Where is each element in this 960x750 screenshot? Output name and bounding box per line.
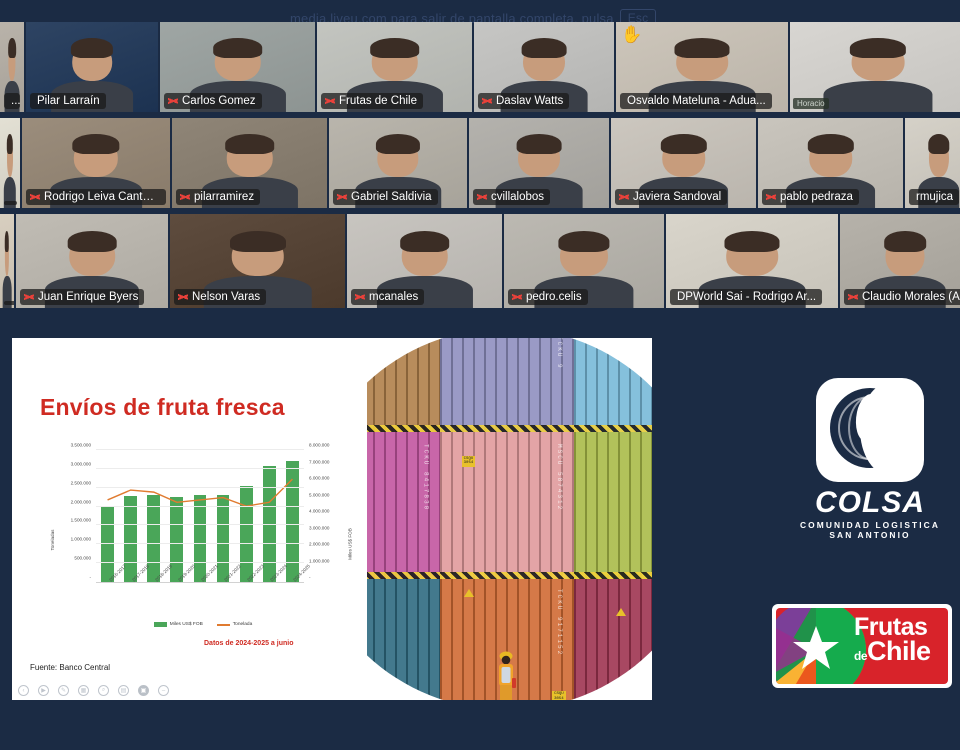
video-tile[interactable]: Horacio xyxy=(790,22,960,112)
legend-item-line: Tonelada xyxy=(217,622,252,627)
participant-name-label: ... xyxy=(4,93,20,109)
participant-mini-label: Horacio xyxy=(793,98,829,109)
participant-name-text: pablo pedraza xyxy=(780,191,853,203)
participant-name-text: pilarramirez xyxy=(194,191,254,203)
participant-name-label xyxy=(4,201,17,205)
legend-label-bar: Miles US$ FOB xyxy=(170,622,203,627)
container-maroon: BMOU 2581830 xyxy=(574,579,652,700)
chart-x-tick-labels: 2016-20172017-20182018-20192019-20202020… xyxy=(96,579,304,603)
chart-y-tick: 1.500.000 xyxy=(71,518,91,523)
participant-name-text: Rodrigo Leiva Cantarel... xyxy=(44,191,160,203)
video-tile[interactable] xyxy=(0,118,20,208)
pdf-grid-button[interactable]: ▦ xyxy=(78,685,89,696)
chart-gridline xyxy=(96,543,304,544)
container-code: TCKU 8417830 xyxy=(423,444,430,511)
pdf-play-button[interactable]: ▶ xyxy=(38,685,49,696)
container-orange: TCKU 9171152 CSQU3054 xyxy=(440,579,573,700)
warning-triangle-icon xyxy=(464,589,474,597)
video-tile[interactable]: mcanales xyxy=(347,214,502,308)
frutas-line2: Chile xyxy=(867,636,931,666)
video-tile[interactable]: Pilar Larraín xyxy=(26,22,158,112)
chart-x-tick: 2016-2017 xyxy=(96,579,119,603)
participant-name-label: DPWorld Sai - Rodrigo Ar... xyxy=(670,289,822,305)
chart-y-tick: - xyxy=(89,575,91,580)
video-tile[interactable]: pilarramirez xyxy=(172,118,327,208)
frutas-wordmark: Frutas deChile xyxy=(854,615,931,665)
legend-swatch-bar xyxy=(154,622,167,627)
container-magenta: TCKU 8417830 CSQU3054 xyxy=(367,432,440,578)
dock-worker-figure xyxy=(495,648,517,700)
participant-name-text: Gabriel Saldivia xyxy=(351,191,432,203)
chart-gridline xyxy=(96,562,304,563)
container-purple: TCKU 9 xyxy=(440,338,573,432)
participant-name-text: mcanales xyxy=(369,291,418,303)
chart-y-tick: 500.000 xyxy=(74,556,91,561)
meeting-screen: media.liveu.com para salir de pantalla c… xyxy=(0,0,960,750)
zoom-participant-icon xyxy=(24,291,34,303)
pdf-minus-button[interactable]: – xyxy=(158,685,169,696)
participant-name-text: Nelson Varas xyxy=(192,291,260,303)
chart-x-tick: 2023-2024 xyxy=(258,579,281,603)
chart-gridline xyxy=(96,487,304,488)
slide-title: Envíos de fruta fresca xyxy=(40,394,285,421)
chart-gridline xyxy=(96,468,304,469)
chart-plot-area: 3.500.0003.000.0002.500.0002.000.0001.50… xyxy=(96,450,304,583)
container-code: TCKU 9 xyxy=(556,338,563,370)
video-gallery: ...Pilar LarraínCarlos Gomez Frutas de C… xyxy=(0,0,960,320)
container-photo: TCKU 9 MSCU 4 TCKU 8417830 CSQU3054 MSCU… xyxy=(367,338,652,700)
video-tile[interactable]: Rodrigo Leiva Cantarel... xyxy=(22,118,170,208)
chart-y2-tick: 4.000.000 xyxy=(309,509,329,514)
chart-annotation: Datos de 2024-2025 a junio xyxy=(204,640,293,647)
video-tile[interactable]: ... xyxy=(0,22,24,112)
zoom-participant-icon xyxy=(477,191,487,203)
container-teal: 144242 xyxy=(367,579,440,700)
participant-name-text: Juan Enrique Byers xyxy=(38,291,138,303)
participant-name-text: Daslav Watts xyxy=(496,95,563,107)
zoom-participant-icon xyxy=(848,291,858,303)
pdf-note-button[interactable]: ▤ xyxy=(118,685,129,696)
colsa-logo: COLSA COMUNIDAD LOGISTICA SAN ANTONIO xyxy=(790,378,950,553)
zoom-participant-icon xyxy=(30,191,40,203)
chart-y2-tick: 5.000.000 xyxy=(309,492,329,497)
participant-name-text: Frutas de Chile xyxy=(339,95,417,107)
participant-name-text: rmujica xyxy=(916,191,953,203)
participant-name-label: rmujica xyxy=(909,189,959,205)
pdf-prev-button[interactable]: ‹ xyxy=(18,685,29,696)
zoom-participant-icon xyxy=(325,95,335,107)
participant-name-label: Carlos Gomez xyxy=(164,93,262,109)
video-tile[interactable]: Nelson Varas xyxy=(170,214,345,308)
container-lightblue: MSCU 4 xyxy=(574,338,652,432)
video-tile[interactable]: Juan Enrique Byers xyxy=(16,214,168,308)
video-tile[interactable]: cvillalobos xyxy=(469,118,609,208)
chart-y-tick: 2.500.000 xyxy=(71,480,91,485)
participant-name-label: Osvaldo Mateluna - Adua... xyxy=(620,93,772,109)
legend-item-bar: Miles US$ FOB xyxy=(154,622,203,627)
frutas-de: de xyxy=(854,649,867,663)
chart-y-axis-label: Toneladas xyxy=(50,530,55,551)
chart-y-tick: 1.000.000 xyxy=(71,537,91,542)
chart-y2-tick: 2.000.000 xyxy=(309,542,329,547)
chart-y2-tick: 1.000.000 xyxy=(309,558,329,563)
video-tile[interactable]: Daslav Watts xyxy=(474,22,614,112)
participant-name-text: Claudio Morales (A xyxy=(862,291,960,303)
chart-x-tick: 2022-2023 xyxy=(235,579,258,603)
participant-name-label: Javiera Sandoval xyxy=(615,189,727,205)
participant-name-label: pablo pedraza xyxy=(762,189,859,205)
pdf-zoom-button[interactable]: ⌕ xyxy=(98,685,109,696)
colsa-globe-icon xyxy=(816,378,924,482)
chart-x-tick: 2021-2022 xyxy=(212,579,235,603)
video-tile[interactable]: pedro.celis xyxy=(504,214,664,308)
chart-gridline xyxy=(96,524,304,525)
participant-name-label: mcanales xyxy=(351,289,424,305)
slide-source: Fuente: Banco Central xyxy=(30,663,110,672)
chart-x-tick: 2018-2019 xyxy=(142,579,165,603)
pdf-screen-button[interactable]: ▣ xyxy=(138,685,149,696)
zoom-participant-icon xyxy=(337,191,347,203)
zoom-participant-icon xyxy=(180,191,190,203)
participant-name-text: Carlos Gomez xyxy=(182,95,256,107)
video-tile[interactable]: Gabriel Saldivia xyxy=(329,118,467,208)
participant-name-text: DPWorld Sai - Rodrigo Ar... xyxy=(677,291,816,303)
video-tile[interactable]: Carlos Gomez xyxy=(160,22,315,112)
chart-x-tick: 2020-2021 xyxy=(189,579,212,603)
gallery-row-3: Juan Enrique ByersNelson Varasmcanalespe… xyxy=(0,214,960,308)
chart-y-tick: 3.500.000 xyxy=(71,443,91,448)
chart-y2-axis-label: Miles US$ FOB xyxy=(348,528,353,560)
zoom-participant-icon xyxy=(482,95,492,107)
participant-name-label: Rodrigo Leiva Cantarel... xyxy=(26,189,166,205)
chart-x-tick: 2024-2025 xyxy=(281,579,304,603)
chart-y-tick: 3.000.000 xyxy=(71,461,91,466)
container-olive: TCNU 4021830 CSQU3054 xyxy=(574,432,652,578)
video-tile[interactable]: ✋Osvaldo Mateluna - Adua... xyxy=(616,22,788,112)
container-pink: MSCU 5874312 CSQU3054 xyxy=(440,432,573,578)
participant-name-label: Juan Enrique Byers xyxy=(20,289,144,305)
participant-name-text: cvillalobos xyxy=(491,191,544,203)
pdf-toolbar[interactable]: ‹ ▶ ✎ ▦ ⌕ ▤ ▣ – xyxy=(18,685,169,696)
video-tile[interactable]: Claudio Morales (A xyxy=(840,214,960,308)
participant-name-text: Osvaldo Mateluna - Adua... xyxy=(627,95,766,107)
gallery-row-1: ...Pilar LarraínCarlos Gomez Frutas de C… xyxy=(0,22,960,112)
zoom-participant-icon xyxy=(178,291,188,303)
colsa-subtitle-line2: SAN ANTONIO xyxy=(829,530,910,540)
chart-y2-tick: 8.000.000 xyxy=(309,443,329,448)
gallery-row-2: Rodrigo Leiva Cantarel...pilarramirezGab… xyxy=(0,118,960,208)
chart-y2-tick: - xyxy=(309,575,311,580)
chart-line-path xyxy=(108,479,293,506)
participant-name-label: Nelson Varas xyxy=(174,289,266,305)
container-stack: TCKU 9 MSCU 4 TCKU 8417830 CSQU3054 MSCU… xyxy=(367,338,652,700)
container-code: MSCU 5874312 xyxy=(556,444,563,511)
video-tile[interactable] xyxy=(0,214,14,308)
colsa-wordmark: COLSA xyxy=(815,486,925,520)
zoom-participant-icon xyxy=(512,291,522,303)
chart-y2-tick: 3.000.000 xyxy=(309,525,329,530)
video-tile[interactable]: Frutas de Chile xyxy=(317,22,472,112)
zoom-participant-icon xyxy=(355,291,365,303)
colsa-subtitle-line1: COMUNIDAD LOGISTICA xyxy=(800,520,940,530)
container-code: TCKU 9171152 xyxy=(556,589,563,656)
chart-y2-tick: 7.000.000 xyxy=(309,459,329,464)
container-tag: CSQU3054 xyxy=(552,691,566,700)
chart-y2-tick: 6.000.000 xyxy=(309,476,329,481)
participant-name-label: pilarramirez xyxy=(176,189,260,205)
container-tag: CSQU3054 xyxy=(462,456,476,467)
video-tile[interactable]: rmujica xyxy=(905,118,960,208)
participant-name-label: Pilar Larraín xyxy=(30,93,106,109)
participant-name-text: pedro.celis xyxy=(526,291,582,303)
video-tile[interactable]: Javiera Sandoval xyxy=(611,118,756,208)
pdf-pen-button[interactable]: ✎ xyxy=(58,685,69,696)
zoom-participant-icon xyxy=(619,191,629,203)
video-tile[interactable]: DPWorld Sai - Rodrigo Ar... xyxy=(666,214,838,308)
raised-hand-icon: ✋ xyxy=(621,26,642,43)
frutas-de-chile-logo: Frutas deChile xyxy=(772,604,952,688)
zoom-participant-icon xyxy=(168,95,178,107)
chart-x-tick: 2017-2018 xyxy=(119,579,142,603)
shared-slide[interactable]: Envíos de fruta fresca Toneladas Miles U… xyxy=(12,338,652,700)
warning-triangle-icon xyxy=(616,608,626,616)
participant-name-label: Daslav Watts xyxy=(478,93,569,109)
participant-name-text: Pilar Larraín xyxy=(37,95,100,107)
participant-name-label xyxy=(4,301,14,305)
chart-gridline xyxy=(96,506,304,507)
legend-label-line: Tonelada xyxy=(233,622,252,627)
participant-name-label: cvillalobos xyxy=(473,189,550,205)
chart-x-tick: 2019-2020 xyxy=(165,579,188,603)
chart-gridline xyxy=(96,449,304,450)
participant-name-label: Gabriel Saldivia xyxy=(333,189,438,205)
legend-swatch-line xyxy=(217,624,230,626)
participant-name-text: Javiera Sandoval xyxy=(633,191,721,203)
warning-triangle-icon xyxy=(635,338,645,342)
container-brown xyxy=(367,338,440,432)
chart-legend: Miles US$ FOB Tonelada xyxy=(38,622,368,627)
participant-name-label: Frutas de Chile xyxy=(321,93,423,109)
participant-name-label: Claudio Morales (A xyxy=(844,289,960,305)
participant-name-label: pedro.celis xyxy=(508,289,588,305)
video-tile[interactable]: pablo pedraza xyxy=(758,118,903,208)
chart-y-tick: 2.000.000 xyxy=(71,499,91,504)
chart-envios-fruta-fresca: Toneladas Miles US$ FOB 3.500.0003.000.0… xyxy=(38,444,368,629)
zoom-participant-icon xyxy=(766,191,776,203)
